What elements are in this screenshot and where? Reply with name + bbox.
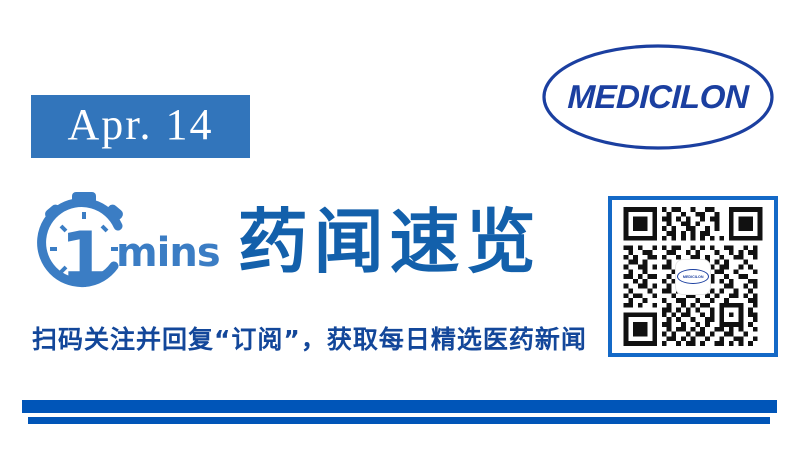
qr-logo-ellipse-icon: MEDICILON — [677, 269, 709, 284]
svg-text:1: 1 — [60, 218, 107, 296]
footer-bar-thick — [22, 400, 777, 413]
qr-center-logo: MEDICILON — [676, 260, 710, 294]
logo-wordmark: MEDICILON — [539, 43, 777, 151]
qr-code[interactable]: MEDICILON — [608, 196, 778, 357]
medicilon-logo: MEDICILON — [541, 43, 775, 151]
stopwatch-icon: 1 — [30, 188, 138, 296]
headline-row: 1 mins 药闻速览 — [30, 186, 542, 298]
subtitle-text: 扫码关注并回复“订阅”，获取每日精选医药新闻 — [32, 326, 587, 355]
poster-canvas: Apr. 14 MEDICILON — [0, 0, 800, 468]
footer-bar-thin — [28, 417, 770, 424]
date-badge-label: Apr. 14 — [68, 103, 214, 151]
qr-logo-wordmark: MEDICILON — [683, 274, 704, 279]
date-badge: Apr. 14 — [31, 95, 250, 158]
qr-inner: MEDICILON — [621, 207, 765, 346]
headline-title: 药闻速览 — [238, 207, 542, 277]
